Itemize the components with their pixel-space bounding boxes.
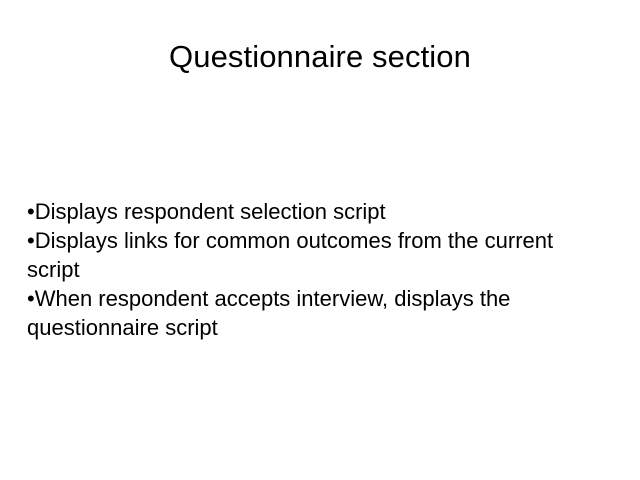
- bullet-icon: •: [27, 286, 35, 311]
- bullet-icon: •: [27, 199, 35, 224]
- list-item: •When respondent accepts interview, disp…: [27, 284, 605, 342]
- page-title: Questionnaire section: [0, 38, 640, 76]
- list-item-label: Displays respondent selection script: [35, 199, 386, 224]
- list-item: •Displays respondent selection script: [27, 197, 605, 226]
- list-item: •Displays links for common outcomes from…: [27, 226, 605, 284]
- list-item-label: When respondent accepts interview, displ…: [27, 286, 510, 340]
- slide-canvas: Questionnaire section •Displays responde…: [0, 0, 640, 480]
- bullet-list: •Displays respondent selection script •D…: [27, 197, 605, 342]
- list-item-label: Displays links for common outcomes from …: [27, 228, 553, 282]
- bullet-icon: •: [27, 228, 35, 253]
